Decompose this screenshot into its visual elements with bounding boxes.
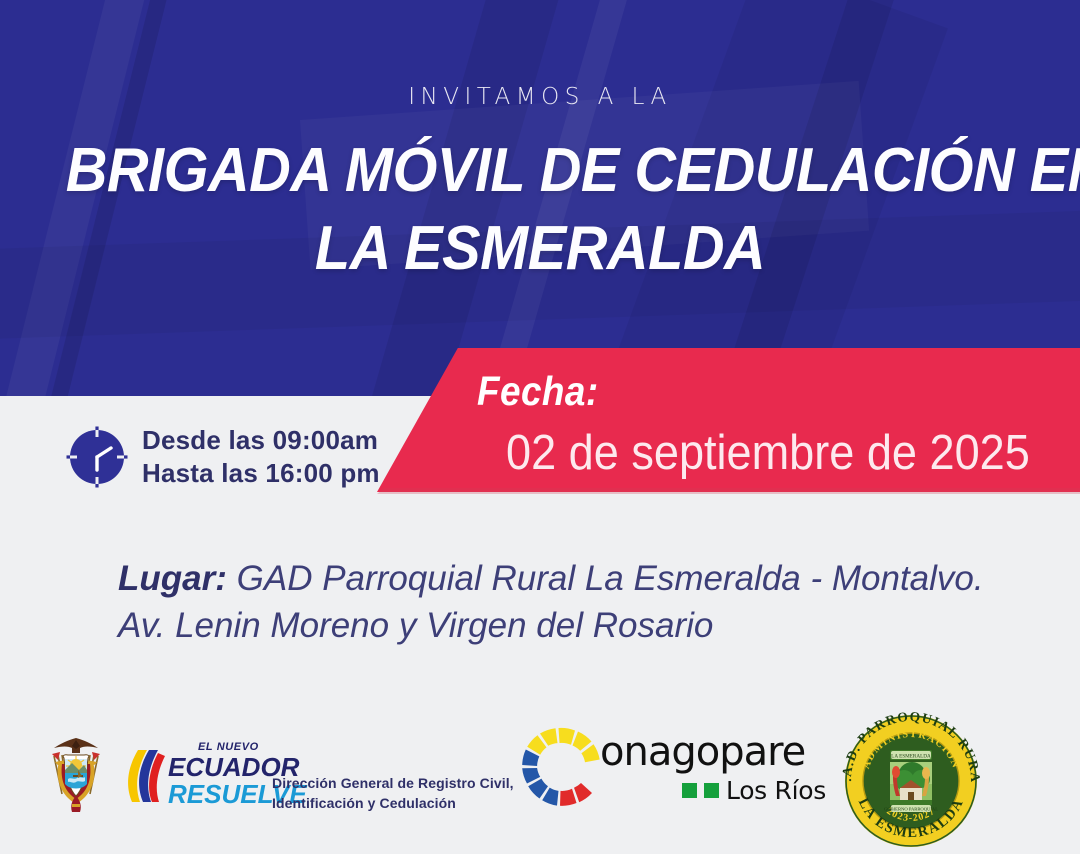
ecuador-coat-of-arms-icon <box>38 732 114 816</box>
venue-text-1: GAD Parroquial Rural La Esmeralda - Mont… <box>237 559 984 598</box>
conagopare-region: Los Ríos <box>726 778 826 803</box>
conagopare-wordmark: onagopare Los Ríos <box>600 732 826 803</box>
schedule-line-2: Hasta las 16:00 pm <box>142 457 380 490</box>
clock-icon <box>66 426 128 488</box>
conagopare-subtitle-row: Los Ríos <box>682 778 826 803</box>
schedule-block: Desde las 09:00am Hasta las 16:00 pm <box>66 424 380 490</box>
venue-block: Lugar: GAD Parroquial Rural La Esmeralda… <box>118 556 1018 649</box>
schedule-line-1: Desde las 09:00am <box>142 424 380 457</box>
conagopare-logo: onagopare Los Ríos <box>518 724 826 810</box>
schedule-text: Desde las 09:00am Hasta las 16:00 pm <box>142 424 380 490</box>
seal-emblem: LA ESMERALDA GOBIERNO PAR <box>884 750 938 812</box>
date-banner-shadow <box>377 488 1080 494</box>
date-value: 02 de septiembre de 2025 <box>506 425 1030 481</box>
registro-civil-line-2: Identificación y Cedulación <box>272 794 514 814</box>
ecuador-government-logo: EL NUEVO ECUADOR RESUELVE <box>38 732 307 816</box>
page-title: BRIGADA MÓVIL DE CEDULACIÓN EN LA ESMERA… <box>66 140 1015 280</box>
poster-canvas: INVITAMOS A LA BRIGADA MÓVIL DE CEDULACI… <box>0 0 1080 854</box>
kicker-text: INVITAMOS A LA <box>0 84 1080 110</box>
green-square-icon <box>704 783 719 798</box>
page-title-line-2: LA ESMERALDA <box>66 218 1015 280</box>
venue-line-1: Lugar: GAD Parroquial Rural La Esmeralda… <box>118 556 1018 603</box>
ecuador-flag-slashes-icon <box>120 744 166 804</box>
registro-civil-caption: Dirección General de Registro Civil, Ide… <box>272 774 514 814</box>
conagopare-name: onagopare <box>600 732 826 772</box>
gad-seal-icon: G.A.D. PARROQUIAL RURAL LA ESMERALDA ADM… <box>836 706 986 854</box>
green-square-icon <box>682 783 697 798</box>
gad-parroquial-seal: G.A.D. PARROQUIAL RURAL LA ESMERALDA ADM… <box>836 706 986 854</box>
date-label: Fecha: <box>477 368 599 415</box>
footer-logos: EL NUEVO ECUADOR RESUELVE Dirección Gene… <box>0 700 1080 854</box>
venue-line-2: Av. Lenin Moreno y Virgen del Rosario <box>118 603 1018 650</box>
page-title-line-1: BRIGADA MÓVIL DE CEDULACIÓN EN <box>66 140 1015 202</box>
venue-label: Lugar: <box>118 559 227 598</box>
registro-civil-line-1: Dirección General de Registro Civil, <box>272 774 514 794</box>
svg-text:GOBIERNO PARROQUIAL: GOBIERNO PARROQUIAL <box>884 806 938 811</box>
conagopare-ring-icon <box>518 724 604 810</box>
ecuador-resuelve-tagline: EL NUEVO <box>198 742 307 753</box>
svg-text:LA ESMERALDA: LA ESMERALDA <box>891 754 931 760</box>
